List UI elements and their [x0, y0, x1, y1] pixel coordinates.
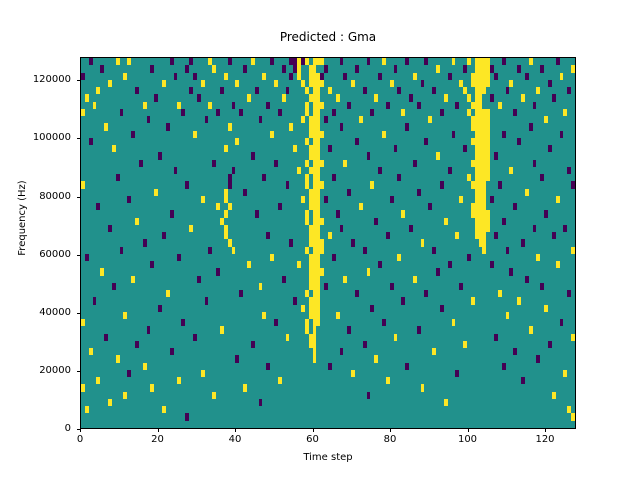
x-tick-label: 0 — [50, 434, 110, 446]
x-tick-mark — [390, 429, 391, 432]
y-tick-mark — [77, 138, 80, 139]
y-tick-mark — [77, 313, 80, 314]
x-tick-label: 20 — [128, 434, 188, 446]
x-tick-label: 120 — [515, 434, 575, 446]
x-tick-label: 100 — [438, 434, 498, 446]
x-tick-label: 80 — [360, 434, 420, 446]
y-tick-label: 20000 — [0, 365, 71, 377]
figure: Predicted : Gma Time step Frequency (Hz)… — [0, 0, 640, 480]
x-tick-mark — [158, 429, 159, 432]
x-tick-label: 60 — [283, 434, 343, 446]
y-tick-mark — [77, 197, 80, 198]
y-tick-mark — [77, 371, 80, 372]
x-tick-label: 40 — [205, 434, 265, 446]
y-tick-label: 100000 — [0, 132, 71, 144]
y-tick-label: 60000 — [0, 249, 71, 261]
y-tick-label: 0 — [0, 423, 71, 435]
x-axis-label: Time step — [80, 452, 576, 464]
y-tick-mark — [77, 429, 80, 430]
x-tick-mark — [235, 429, 236, 432]
x-tick-mark — [468, 429, 469, 432]
page-title: Predicted : Gma — [80, 30, 576, 44]
heatmap-image — [81, 58, 575, 428]
y-tick-label: 80000 — [0, 191, 71, 203]
x-tick-mark — [313, 429, 314, 432]
y-tick-mark — [77, 255, 80, 256]
y-tick-label: 120000 — [0, 74, 71, 86]
x-tick-mark — [545, 429, 546, 432]
heatmap-axes — [80, 57, 576, 429]
y-tick-label: 40000 — [0, 307, 71, 319]
y-tick-mark — [77, 80, 80, 81]
x-tick-mark — [80, 429, 81, 432]
